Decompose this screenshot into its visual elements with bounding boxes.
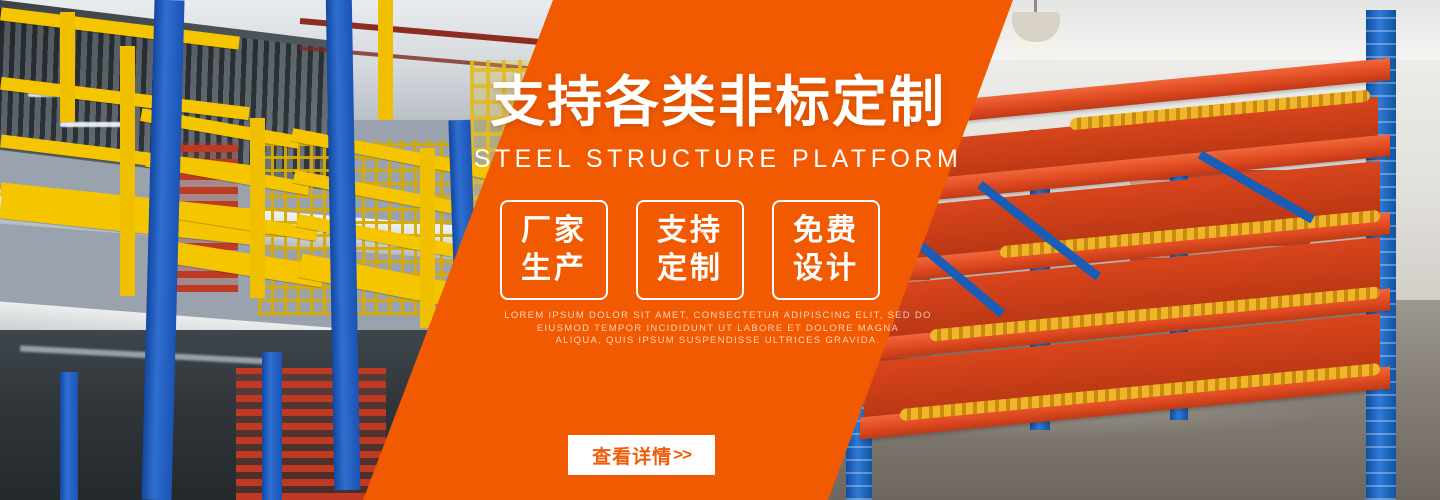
description-line-2: EIUSMOD TEMPOR INCIDIDUNT UT LABORE ET D… — [438, 323, 998, 336]
badge-customization: 支持 定制 — [636, 200, 744, 300]
feature-badges: 厂家 生产 支持 定制 免费 设计 — [500, 200, 880, 300]
cta-label: 查看详情 — [592, 442, 672, 469]
badge-free-design: 免费 设计 — [772, 200, 880, 300]
double-chevron-right-icon: >> — [673, 445, 691, 465]
badge-line1: 免费 — [793, 212, 859, 250]
view-details-button[interactable]: 查看详情 >> — [568, 435, 715, 475]
badge-line2: 设计 — [793, 250, 859, 288]
promo-banner: 支持各类非标定制 STEEL STRUCTURE PLATFORM 厂家 生产 … — [0, 0, 1440, 500]
badge-line2: 定制 — [657, 250, 723, 288]
description-line-1: LOREM IPSUM DOLOR SIT AMET, CONSECTETUR … — [438, 310, 998, 323]
badge-manufacturer: 厂家 生产 — [500, 200, 608, 300]
badge-line2: 生产 — [521, 250, 587, 288]
badge-line1: 支持 — [657, 212, 723, 250]
badge-line1: 厂家 — [521, 212, 587, 250]
banner-content: 支持各类非标定制 STEEL STRUCTURE PLATFORM 厂家 生产 … — [0, 0, 1440, 500]
page-title: 支持各类非标定制 — [438, 72, 998, 132]
subtitle: STEEL STRUCTURE PLATFORM — [438, 144, 998, 174]
description-line-3: ALIQUA, QUIS IPSUM SUSPENDISSE ULTRICES … — [438, 335, 998, 348]
description-text: LOREM IPSUM DOLOR SIT AMET, CONSECTETUR … — [438, 310, 998, 348]
